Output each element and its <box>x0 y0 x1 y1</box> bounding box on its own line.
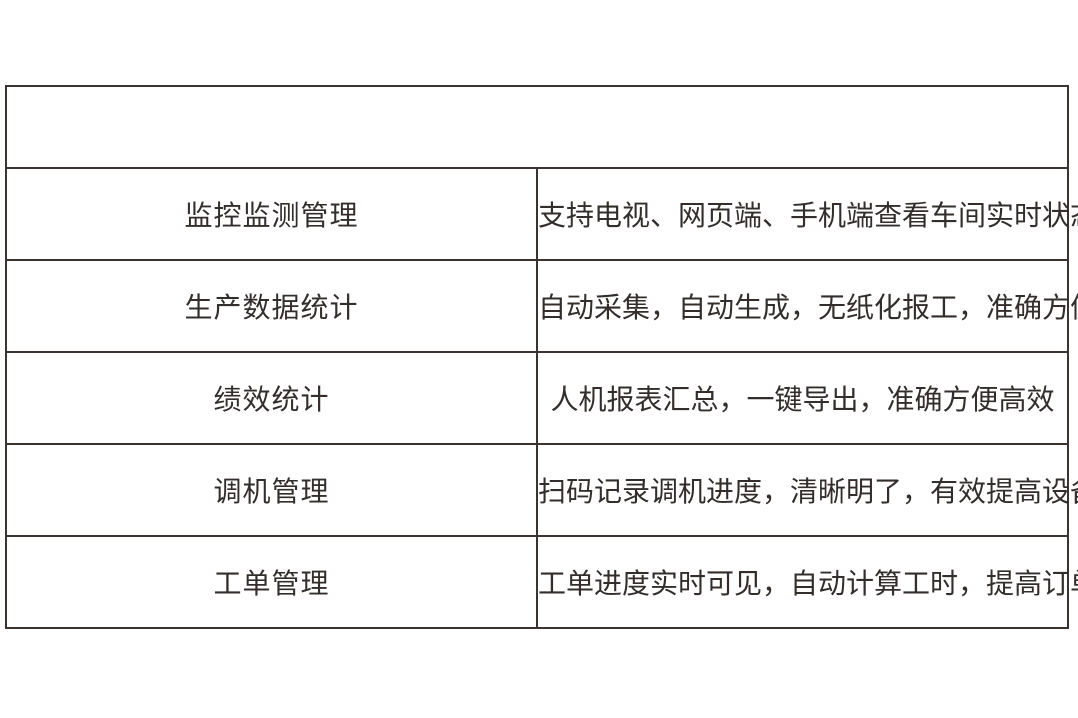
feature-label: 调机管理 <box>7 470 536 510</box>
feature-label-cell: 生产数据统计 <box>6 260 537 352</box>
feature-description: 工单进度实时可见，自动计算工时，提高订单及时率 <box>538 562 1067 602</box>
table-banner-row: 机加云管理系统 <box>6 86 1068 168</box>
table-row: 生产数据统计 自动采集，自动生成，无纸化报工，准确方便高效 <box>6 260 1068 352</box>
feature-description: 支持电视、网页端、手机端查看车间实时状态 <box>538 194 1067 234</box>
feature-label-cell: 监控监测管理 <box>6 168 537 260</box>
feature-label-cell: 工单管理 <box>6 536 537 628</box>
feature-label-cell: 调机管理 <box>6 444 537 536</box>
feature-description-cell: 支持电视、网页端、手机端查看车间实时状态 <box>537 168 1068 260</box>
feature-description: 人机报表汇总，一键导出，准确方便高效 <box>538 378 1067 418</box>
feature-description: 自动采集，自动生成，无纸化报工，准确方便高效 <box>538 286 1067 326</box>
feature-description-cell: 自动采集，自动生成，无纸化报工，准确方便高效 <box>537 260 1068 352</box>
table-row: 绩效统计 人机报表汇总，一键导出，准确方便高效 <box>6 352 1068 444</box>
feature-label: 监控监测管理 <box>7 194 536 234</box>
page-title: 机加云管理系统 <box>7 87 1067 167</box>
feature-description-cell: 扫码记录调机进度，清晰明了，有效提高设备利用率 <box>537 444 1068 536</box>
feature-description-cell: 工单进度实时可见，自动计算工时，提高订单及时率 <box>537 536 1068 628</box>
feature-label: 生产数据统计 <box>7 286 536 326</box>
feature-table-page: 机加云管理系统 监控监测管理 支持电视、网页端、手机端查看车间实时状态 生产数据… <box>0 0 1078 718</box>
feature-description-cell: 人机报表汇总，一键导出，准确方便高效 <box>537 352 1068 444</box>
feature-label-cell: 绩效统计 <box>6 352 537 444</box>
feature-label: 工单管理 <box>7 562 536 602</box>
feature-description: 扫码记录调机进度，清晰明了，有效提高设备利用率 <box>538 470 1067 510</box>
feature-label: 绩效统计 <box>7 378 536 418</box>
feature-table: 机加云管理系统 监控监测管理 支持电视、网页端、手机端查看车间实时状态 生产数据… <box>5 85 1069 629</box>
table-row: 监控监测管理 支持电视、网页端、手机端查看车间实时状态 <box>6 168 1068 260</box>
table-row: 工单管理 工单进度实时可见，自动计算工时，提高订单及时率 <box>6 536 1068 628</box>
table-row: 调机管理 扫码记录调机进度，清晰明了，有效提高设备利用率 <box>6 444 1068 536</box>
banner-header-cell: 机加云管理系统 <box>6 86 1068 168</box>
